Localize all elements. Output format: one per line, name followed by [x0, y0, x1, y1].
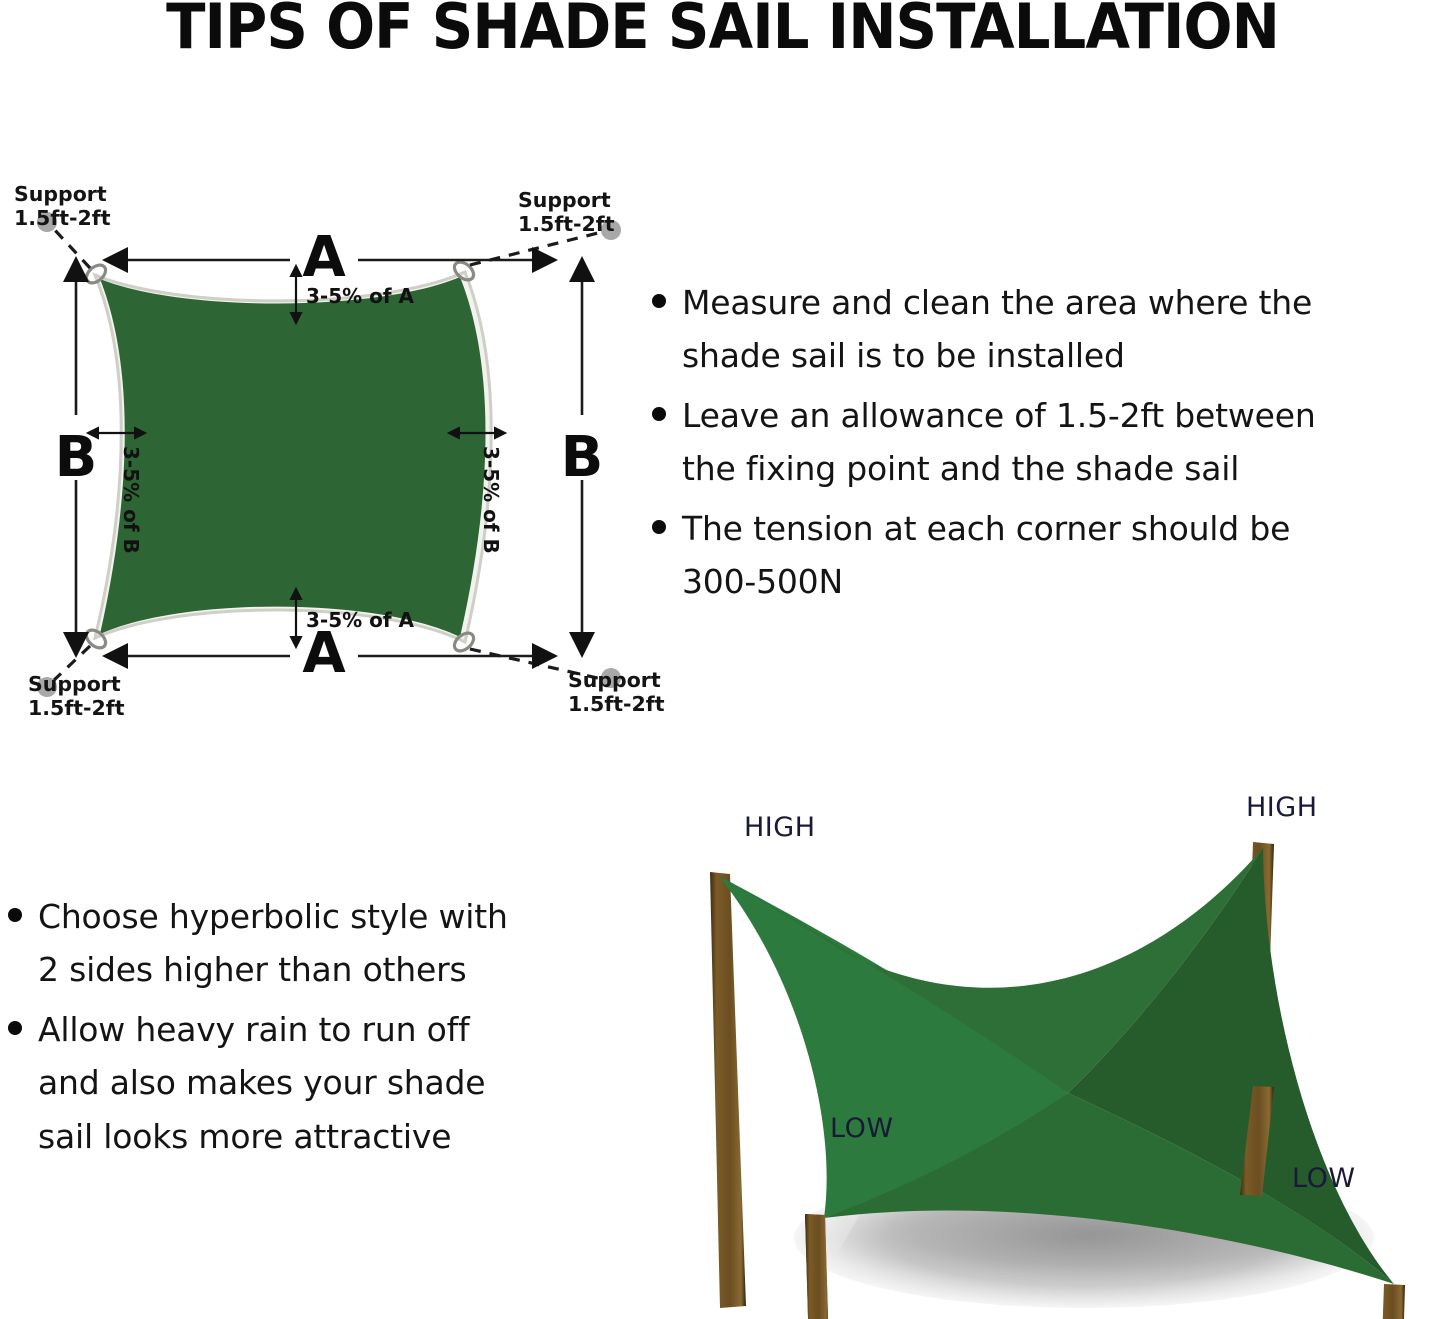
list-item-label: Choose hyperbolic style with 2 sides hig…: [38, 890, 508, 997]
support-label-value: 1.5ft-2ft: [14, 206, 111, 230]
dim-letter-a-top: A: [302, 225, 346, 290]
label-high-left: HIGH: [744, 812, 816, 843]
support-label-text: Support: [28, 672, 125, 696]
sail-diagram-svg: A A B B 3-5% of A 3-5% of A 3-5% of B 3-…: [0, 160, 660, 740]
support-label-value: 1.5ft-2ft: [518, 212, 615, 236]
hyperbolic-sail-svg: [672, 786, 1445, 1319]
support-label-bottom-left: Support 1.5ft-2ft: [28, 672, 125, 720]
support-label-bottom-right: Support 1.5ft-2ft: [568, 668, 665, 716]
support-label-value: 1.5ft-2ft: [568, 692, 665, 716]
sail-body: [100, 277, 486, 637]
list-item: Allow heavy rain to run off and also mak…: [0, 1003, 620, 1163]
support-label-text: Support: [14, 182, 111, 206]
support-label-text: Support: [518, 188, 615, 212]
label-low-left: LOW: [830, 1113, 894, 1144]
support-label-top-right: Support 1.5ft-2ft: [518, 188, 615, 236]
tips-list-hyperbolic: Choose hyperbolic style with 2 sides hig…: [0, 890, 620, 1169]
dim-letter-b-left: B: [55, 425, 98, 490]
list-item: Choose hyperbolic style with 2 sides hig…: [0, 890, 620, 997]
post-high-left: [710, 872, 746, 1308]
support-label-text: Support: [568, 668, 665, 692]
support-label-value: 1.5ft-2ft: [28, 696, 125, 720]
support-line-top-left: [52, 227, 90, 268]
bullet-dot-icon: [8, 1021, 22, 1035]
tips-list-installation: Measure and clean the area where the sha…: [652, 276, 1445, 615]
bullet-dot-icon: [8, 908, 22, 922]
sag-label-left: 3-5% of B: [119, 446, 143, 554]
list-item: Leave an allowance of 1.5-2ft between th…: [652, 389, 1445, 496]
sag-label-top: 3-5% of A: [306, 284, 415, 308]
rectangular-sail-diagram: A A B B 3-5% of A 3-5% of A 3-5% of B 3-…: [0, 160, 660, 740]
hyperbolic-sail-illustration: HIGH HIGH LOW LOW: [672, 786, 1445, 1319]
label-low-right: LOW: [1292, 1163, 1356, 1194]
bullet-dot-icon: [652, 407, 666, 421]
dim-letter-b-right: B: [561, 425, 604, 490]
sag-label-bottom: 3-5% of A: [306, 608, 415, 632]
list-item-label: Leave an allowance of 1.5-2ft between th…: [682, 389, 1316, 496]
bullet-dot-icon: [652, 294, 666, 308]
bullet-dot-icon: [652, 520, 666, 534]
page-title: TIPS OF SHADE SAIL INSTALLATION: [51, 0, 1395, 59]
label-high-right: HIGH: [1246, 792, 1318, 823]
post-low-right: [1378, 1284, 1405, 1319]
list-item-label: Measure and clean the area where the sha…: [682, 276, 1312, 383]
list-item: Measure and clean the area where the sha…: [652, 276, 1445, 383]
list-item-label: Allow heavy rain to run off and also mak…: [38, 1003, 485, 1163]
sag-label-right: 3-5% of B: [479, 446, 503, 554]
support-label-top-left: Support 1.5ft-2ft: [14, 182, 111, 230]
list-item-label: The tension at each corner should be 300…: [682, 502, 1290, 609]
list-item: The tension at each corner should be 300…: [652, 502, 1445, 609]
